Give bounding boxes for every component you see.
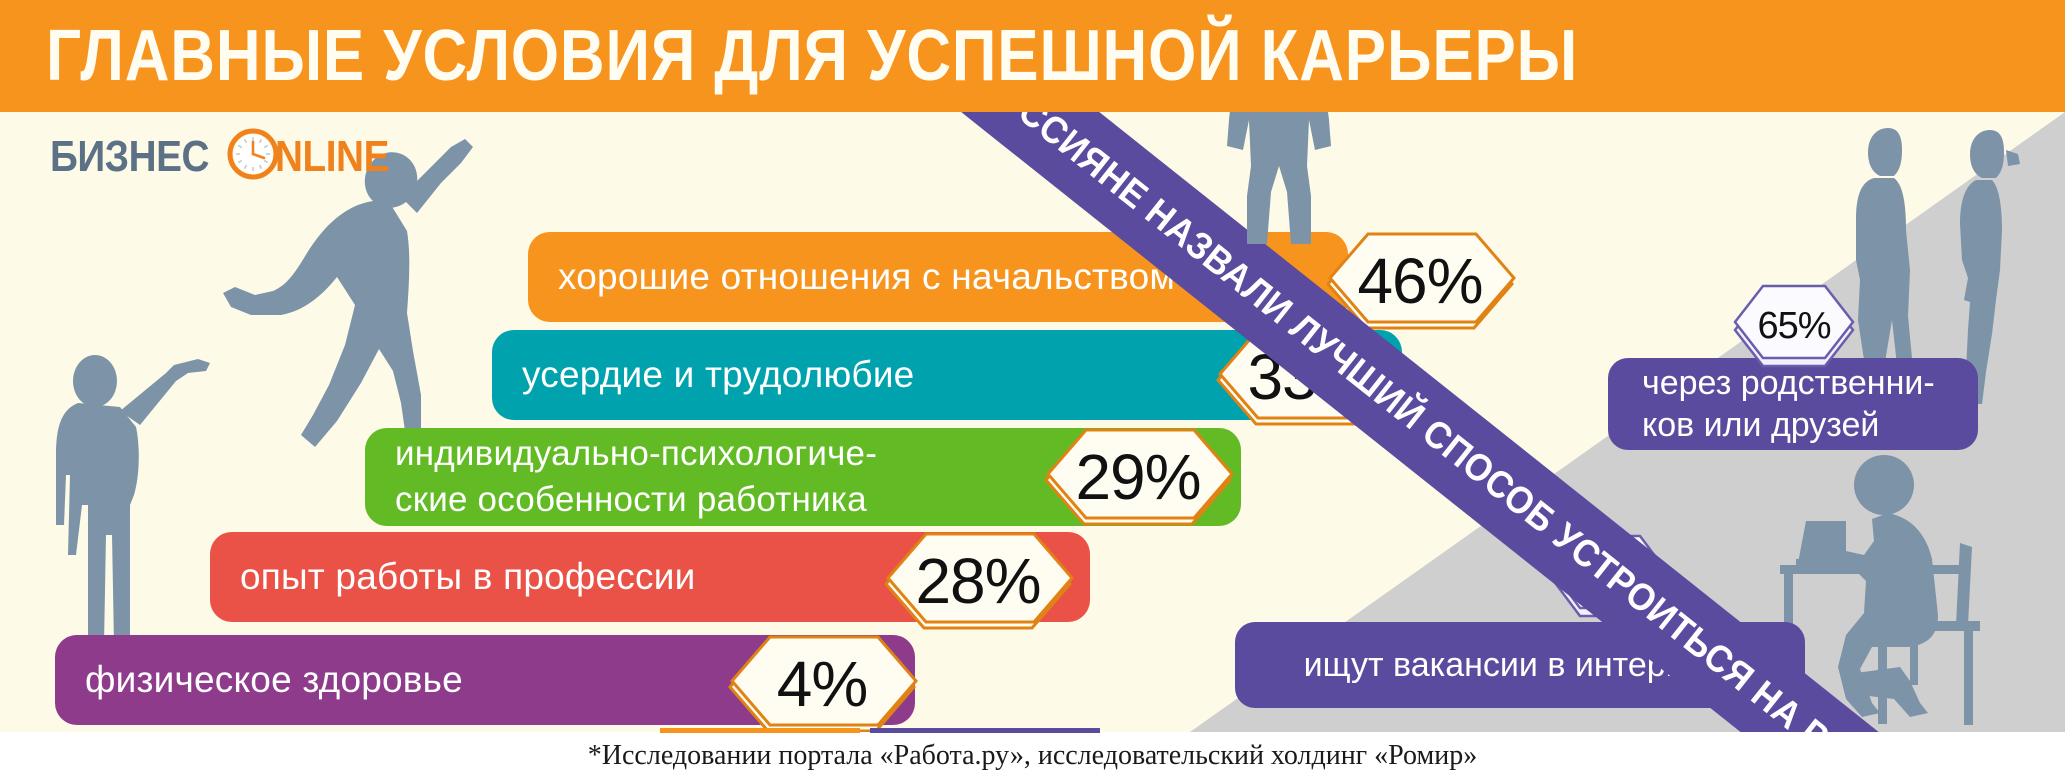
percent-value-1: 46% xyxy=(1357,244,1482,318)
logo-text-online: NLINE xyxy=(275,132,389,182)
bar-label-3: индивидуально-психологиче- ские особенно… xyxy=(365,431,877,523)
footer-source-note: *Исследовании портала «Работа.ру», иссле… xyxy=(588,740,1477,772)
side-percent-value-65: 65% xyxy=(1757,305,1830,348)
percent-value-3: 29% xyxy=(1075,440,1200,514)
side-info-label-relatives: через родственни- ков или друзей xyxy=(1608,362,1969,446)
header-banner: ГЛАВНЫЕ УСЛОВИЯ ДЛЯ УСПЕШНОЙ КАРЬЕРЫ xyxy=(0,0,2065,112)
bar-label-1: хорошие отношения с начальством xyxy=(528,255,1175,299)
percent-value-5: 4% xyxy=(777,647,868,721)
logo-text-bizness: БИЗНЕС xyxy=(50,132,209,182)
footer-accent-line xyxy=(0,728,2065,733)
page-title: ГЛАВНЫЕ УСЛОВИЯ ДЛЯ УСПЕШНОЙ КАРЬЕРЫ xyxy=(46,14,1578,98)
percent-badge-4: 28% xyxy=(880,522,1076,640)
percent-badge-3: 29% xyxy=(1040,418,1236,536)
footer-accent-orange xyxy=(660,728,860,733)
percent-value-4: 28% xyxy=(915,544,1040,618)
bar-label-2: усердие и трудолюбие xyxy=(492,353,914,397)
infographic-canvas: БИЗНЕС xyxy=(0,0,2065,779)
clock-icon xyxy=(227,128,279,185)
site-logo[interactable]: БИЗНЕС xyxy=(50,128,404,185)
footer-accent-purple xyxy=(870,728,1100,733)
footer-bar: *Исследовании портала «Работа.ру», иссле… xyxy=(0,732,2065,779)
bar-label-4: опыт работы в профессии xyxy=(210,555,695,599)
percent-badge-5: 4% xyxy=(724,625,920,743)
side-percent-badge-65: 65% xyxy=(1730,278,1858,374)
bar-label-5: физическое здоровье xyxy=(55,658,463,702)
pointing-man-silhouette xyxy=(48,355,218,650)
